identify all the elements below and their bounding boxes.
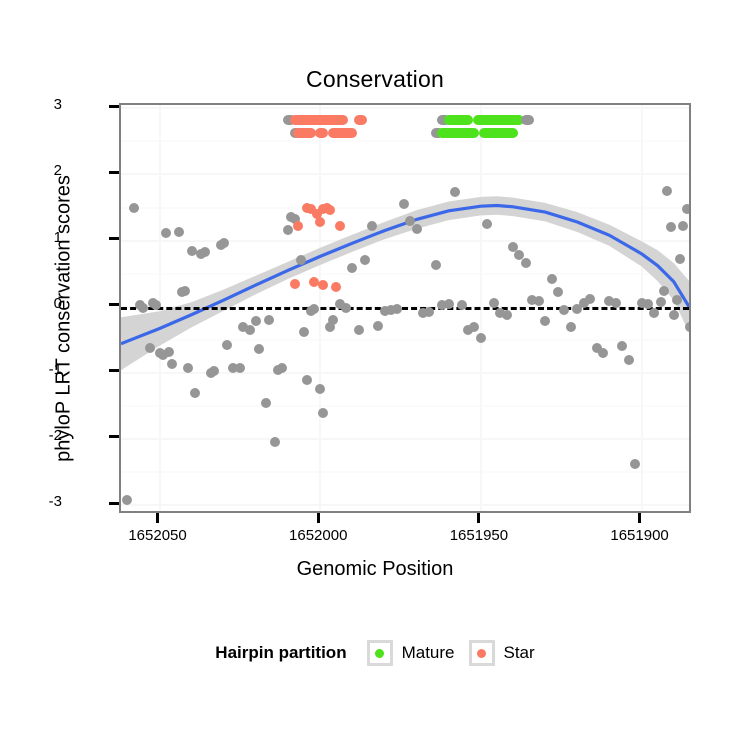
plot-area — [121, 105, 689, 511]
legend-label-mature: Mature — [402, 643, 455, 663]
plot-panel — [119, 103, 691, 513]
y-tick-label: 2 — [2, 162, 62, 179]
x-tick-label: 1651900 — [580, 527, 700, 544]
scatter-point — [235, 363, 245, 373]
partition-marker-star — [354, 115, 367, 125]
scatter-point — [659, 286, 669, 296]
scatter-point — [164, 347, 174, 357]
scatter-point — [145, 343, 155, 353]
scatter-point — [245, 325, 255, 335]
scatter-point — [174, 227, 184, 237]
legend-title: Hairpin partition — [215, 643, 346, 663]
conservation-chart: Conservation phyloP LRT conservation sco… — [0, 0, 750, 750]
y-tick-label: -1 — [2, 361, 62, 378]
x-tick-label: 1651950 — [419, 527, 539, 544]
scatter-point — [183, 363, 193, 373]
partition-marker-star — [328, 128, 357, 138]
y-tick-label: 0 — [2, 295, 62, 312]
y-tick-label: 1 — [2, 229, 62, 246]
scatter-point — [669, 310, 679, 320]
scatter-point — [187, 246, 197, 256]
y-tick-mark — [109, 435, 119, 438]
scatter-point — [547, 274, 557, 284]
legend: Hairpin partition Mature Star — [0, 640, 750, 666]
scatter-point — [457, 300, 467, 310]
scatter-point — [598, 348, 608, 358]
legend-key-mature — [367, 640, 393, 666]
star-dot-icon — [477, 649, 486, 658]
legend-label-star: Star — [504, 643, 535, 663]
scatter-point — [335, 221, 345, 231]
scatter-point — [611, 298, 621, 308]
page-title: Conservation — [0, 66, 750, 93]
scatter-point — [200, 247, 210, 257]
scatter-point — [190, 388, 200, 398]
y-tick-mark — [109, 237, 119, 240]
scatter-point — [341, 303, 351, 313]
partition-marker-mature — [473, 115, 525, 125]
scatter-point — [444, 299, 454, 309]
scatter-point — [373, 321, 383, 331]
scatter-point — [624, 355, 634, 365]
scatter-point — [585, 294, 595, 304]
y-tick-mark — [109, 502, 119, 505]
scatter-point — [290, 279, 300, 289]
legend-key-star — [469, 640, 495, 666]
scatter-point — [219, 238, 229, 248]
scatter-point — [161, 228, 171, 238]
legend-item-star[interactable]: Star — [469, 640, 535, 666]
scatter-point — [318, 408, 328, 418]
y-tick-mark — [109, 369, 119, 372]
scatter-point — [489, 298, 499, 308]
scatter-point — [469, 322, 479, 332]
x-tick-label: 1652050 — [98, 527, 218, 544]
legend-item-mature[interactable]: Mature — [367, 640, 455, 666]
x-axis-title: Genomic Position — [0, 558, 750, 581]
scatter-point — [299, 327, 309, 337]
scatter-point — [283, 225, 293, 235]
mature-dot-icon — [375, 649, 384, 658]
y-tick-label: 3 — [2, 96, 62, 113]
scatter-point — [399, 199, 409, 209]
partition-marker-star — [290, 115, 348, 125]
scatter-point — [129, 203, 139, 213]
scatter-point — [367, 221, 377, 231]
scatter-point — [261, 398, 271, 408]
zero-reference-line — [121, 307, 689, 310]
partition-marker-mature — [444, 115, 473, 125]
scatter-point — [672, 295, 682, 305]
x-tick-label: 1652000 — [258, 527, 378, 544]
scatter-point — [315, 384, 325, 394]
scatter-point — [167, 359, 177, 369]
scatter-point — [325, 205, 335, 215]
scatter-point — [666, 222, 676, 232]
scatter-point — [309, 277, 319, 287]
scatter-point — [685, 322, 689, 332]
y-tick-mark — [109, 171, 119, 174]
y-tick-label: -3 — [2, 493, 62, 510]
x-tick-mark — [477, 513, 480, 523]
y-tick-mark — [109, 303, 119, 306]
x-tick-mark — [317, 513, 320, 523]
y-tick-label: -2 — [2, 427, 62, 444]
scatter-point — [209, 366, 219, 376]
scatter-point — [502, 310, 512, 320]
partition-marker-star — [293, 128, 316, 138]
scatter-point — [277, 363, 287, 373]
scatter-point — [354, 325, 364, 335]
scatter-point — [656, 297, 666, 307]
scatter-point — [412, 224, 422, 234]
x-tick-mark — [638, 513, 641, 523]
partition-marker-mature — [479, 128, 518, 138]
x-tick-mark — [156, 513, 159, 523]
scatter-point — [293, 221, 303, 231]
scatter-point — [566, 322, 576, 332]
scatter-point — [328, 315, 338, 325]
partition-marker-mature — [437, 128, 479, 138]
partition-marker-other — [521, 115, 534, 125]
y-tick-mark — [109, 105, 119, 108]
scatter-point — [431, 260, 441, 270]
scatter-point — [264, 315, 274, 325]
scatter-point — [521, 258, 531, 268]
scatter-point — [682, 204, 689, 214]
scatter-point — [450, 187, 460, 197]
